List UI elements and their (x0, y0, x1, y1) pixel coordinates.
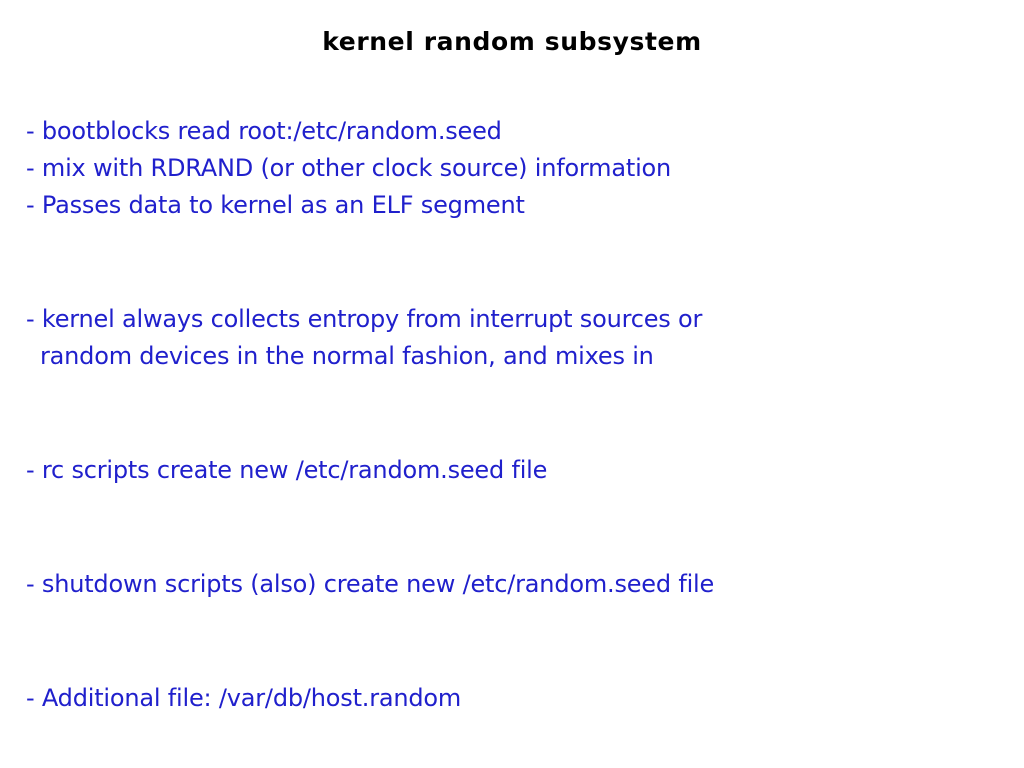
group-spacer (26, 261, 986, 301)
bullet-line-continuation: random devices in the normal fashion, an… (26, 338, 986, 375)
group-spacer (26, 375, 986, 412)
bullet-line: - Passes data to kernel as an ELF segmen… (26, 187, 986, 224)
bullet-group-rc-scripts: - rc scripts create new /etc/random.seed… (26, 452, 986, 489)
bullet-line: - kernel always collects entropy from in… (26, 301, 986, 338)
bullet-line: - Additional file: /var/db/host.random (26, 680, 986, 717)
slide-canvas: kernel random subsystem - bootblocks rea… (0, 0, 1024, 768)
group-spacer (26, 224, 986, 261)
bullet-group-additional-file: - Additional file: /var/db/host.random (26, 680, 986, 717)
bullet-line: - rc scripts create new /etc/random.seed… (26, 452, 986, 489)
bullet-line: - bootblocks read root:/etc/random.seed (26, 113, 986, 150)
page-title: kernel random subsystem (0, 27, 1024, 56)
bullet-group-kernel-entropy: - kernel always collects entropy from in… (26, 301, 986, 375)
group-spacer (26, 412, 986, 452)
slide-body: - bootblocks read root:/etc/random.seed … (26, 113, 986, 717)
group-spacer (26, 526, 986, 566)
bullet-group-boot: - bootblocks read root:/etc/random.seed … (26, 113, 986, 224)
group-spacer (26, 640, 986, 680)
group-spacer (26, 603, 986, 640)
bullet-line: - mix with RDRAND (or other clock source… (26, 150, 986, 187)
bullet-group-shutdown-scripts: - shutdown scripts (also) create new /et… (26, 566, 986, 603)
bullet-line: - shutdown scripts (also) create new /et… (26, 566, 986, 603)
group-spacer (26, 489, 986, 526)
